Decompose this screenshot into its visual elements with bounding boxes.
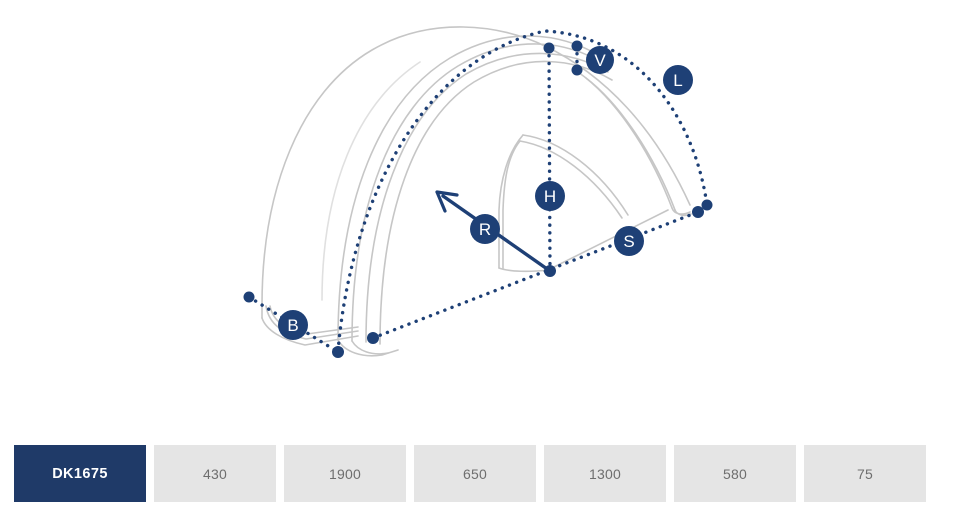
rib-line-2 xyxy=(352,44,604,341)
marker-label-h: H xyxy=(544,187,556,206)
dot-center xyxy=(544,265,556,277)
marker-label-r: R xyxy=(479,220,491,239)
mudguard-outline xyxy=(262,27,691,356)
left-lip-face xyxy=(262,318,358,345)
spec-cell-l: 1900 xyxy=(284,445,406,502)
rib-line-3 xyxy=(366,53,608,342)
page-root: V L H R S xyxy=(0,0,969,522)
marker-label-l: L xyxy=(673,71,682,90)
dot-b-left xyxy=(244,292,255,303)
dimension-marker-l: L xyxy=(663,65,693,95)
dotted-line-S xyxy=(373,212,698,338)
spec-cell-model: DK1675 xyxy=(14,445,146,502)
dimension-marker-v: V xyxy=(586,46,614,74)
mudguard-diagram: V L H R S xyxy=(0,0,969,430)
dot-l-bottom xyxy=(702,200,713,211)
dotted-arc-L xyxy=(338,31,707,351)
dot-s-right xyxy=(692,206,704,218)
spec-cell-h: 650 xyxy=(414,445,536,502)
dotted-line-H xyxy=(549,48,550,271)
radius-arrow-head xyxy=(437,192,457,211)
dot-v-top xyxy=(572,41,583,52)
spec-cell-r: 580 xyxy=(674,445,796,502)
marker-label-s: S xyxy=(623,232,634,251)
dot-v-bottom xyxy=(572,65,583,76)
dimension-marker-b: B xyxy=(278,310,308,340)
dimension-marker-h: H xyxy=(535,181,565,211)
inner-cavity-arc-2 xyxy=(520,141,622,218)
marker-label-b: B xyxy=(287,316,298,335)
dot-h-top xyxy=(544,43,555,54)
dimension-markers: V L H R S xyxy=(278,46,693,340)
spec-cell-s: 1300 xyxy=(544,445,666,502)
spec-cell-b: 430 xyxy=(154,445,276,502)
spec-table: DK1675 430 1900 650 1300 580 75 xyxy=(14,445,926,502)
inner-arch-left xyxy=(578,72,672,208)
dot-s-left xyxy=(367,332,379,344)
dimension-marker-r: R xyxy=(470,214,500,244)
spec-cell-v: 75 xyxy=(804,445,926,502)
marker-label-v: V xyxy=(594,51,606,70)
diagram-canvas: V L H R S xyxy=(0,0,969,430)
endpoint-dots xyxy=(244,41,713,359)
dimension-marker-s: S xyxy=(614,226,644,256)
rear-lip-bottom xyxy=(338,340,398,356)
dot-b-right xyxy=(332,346,344,358)
